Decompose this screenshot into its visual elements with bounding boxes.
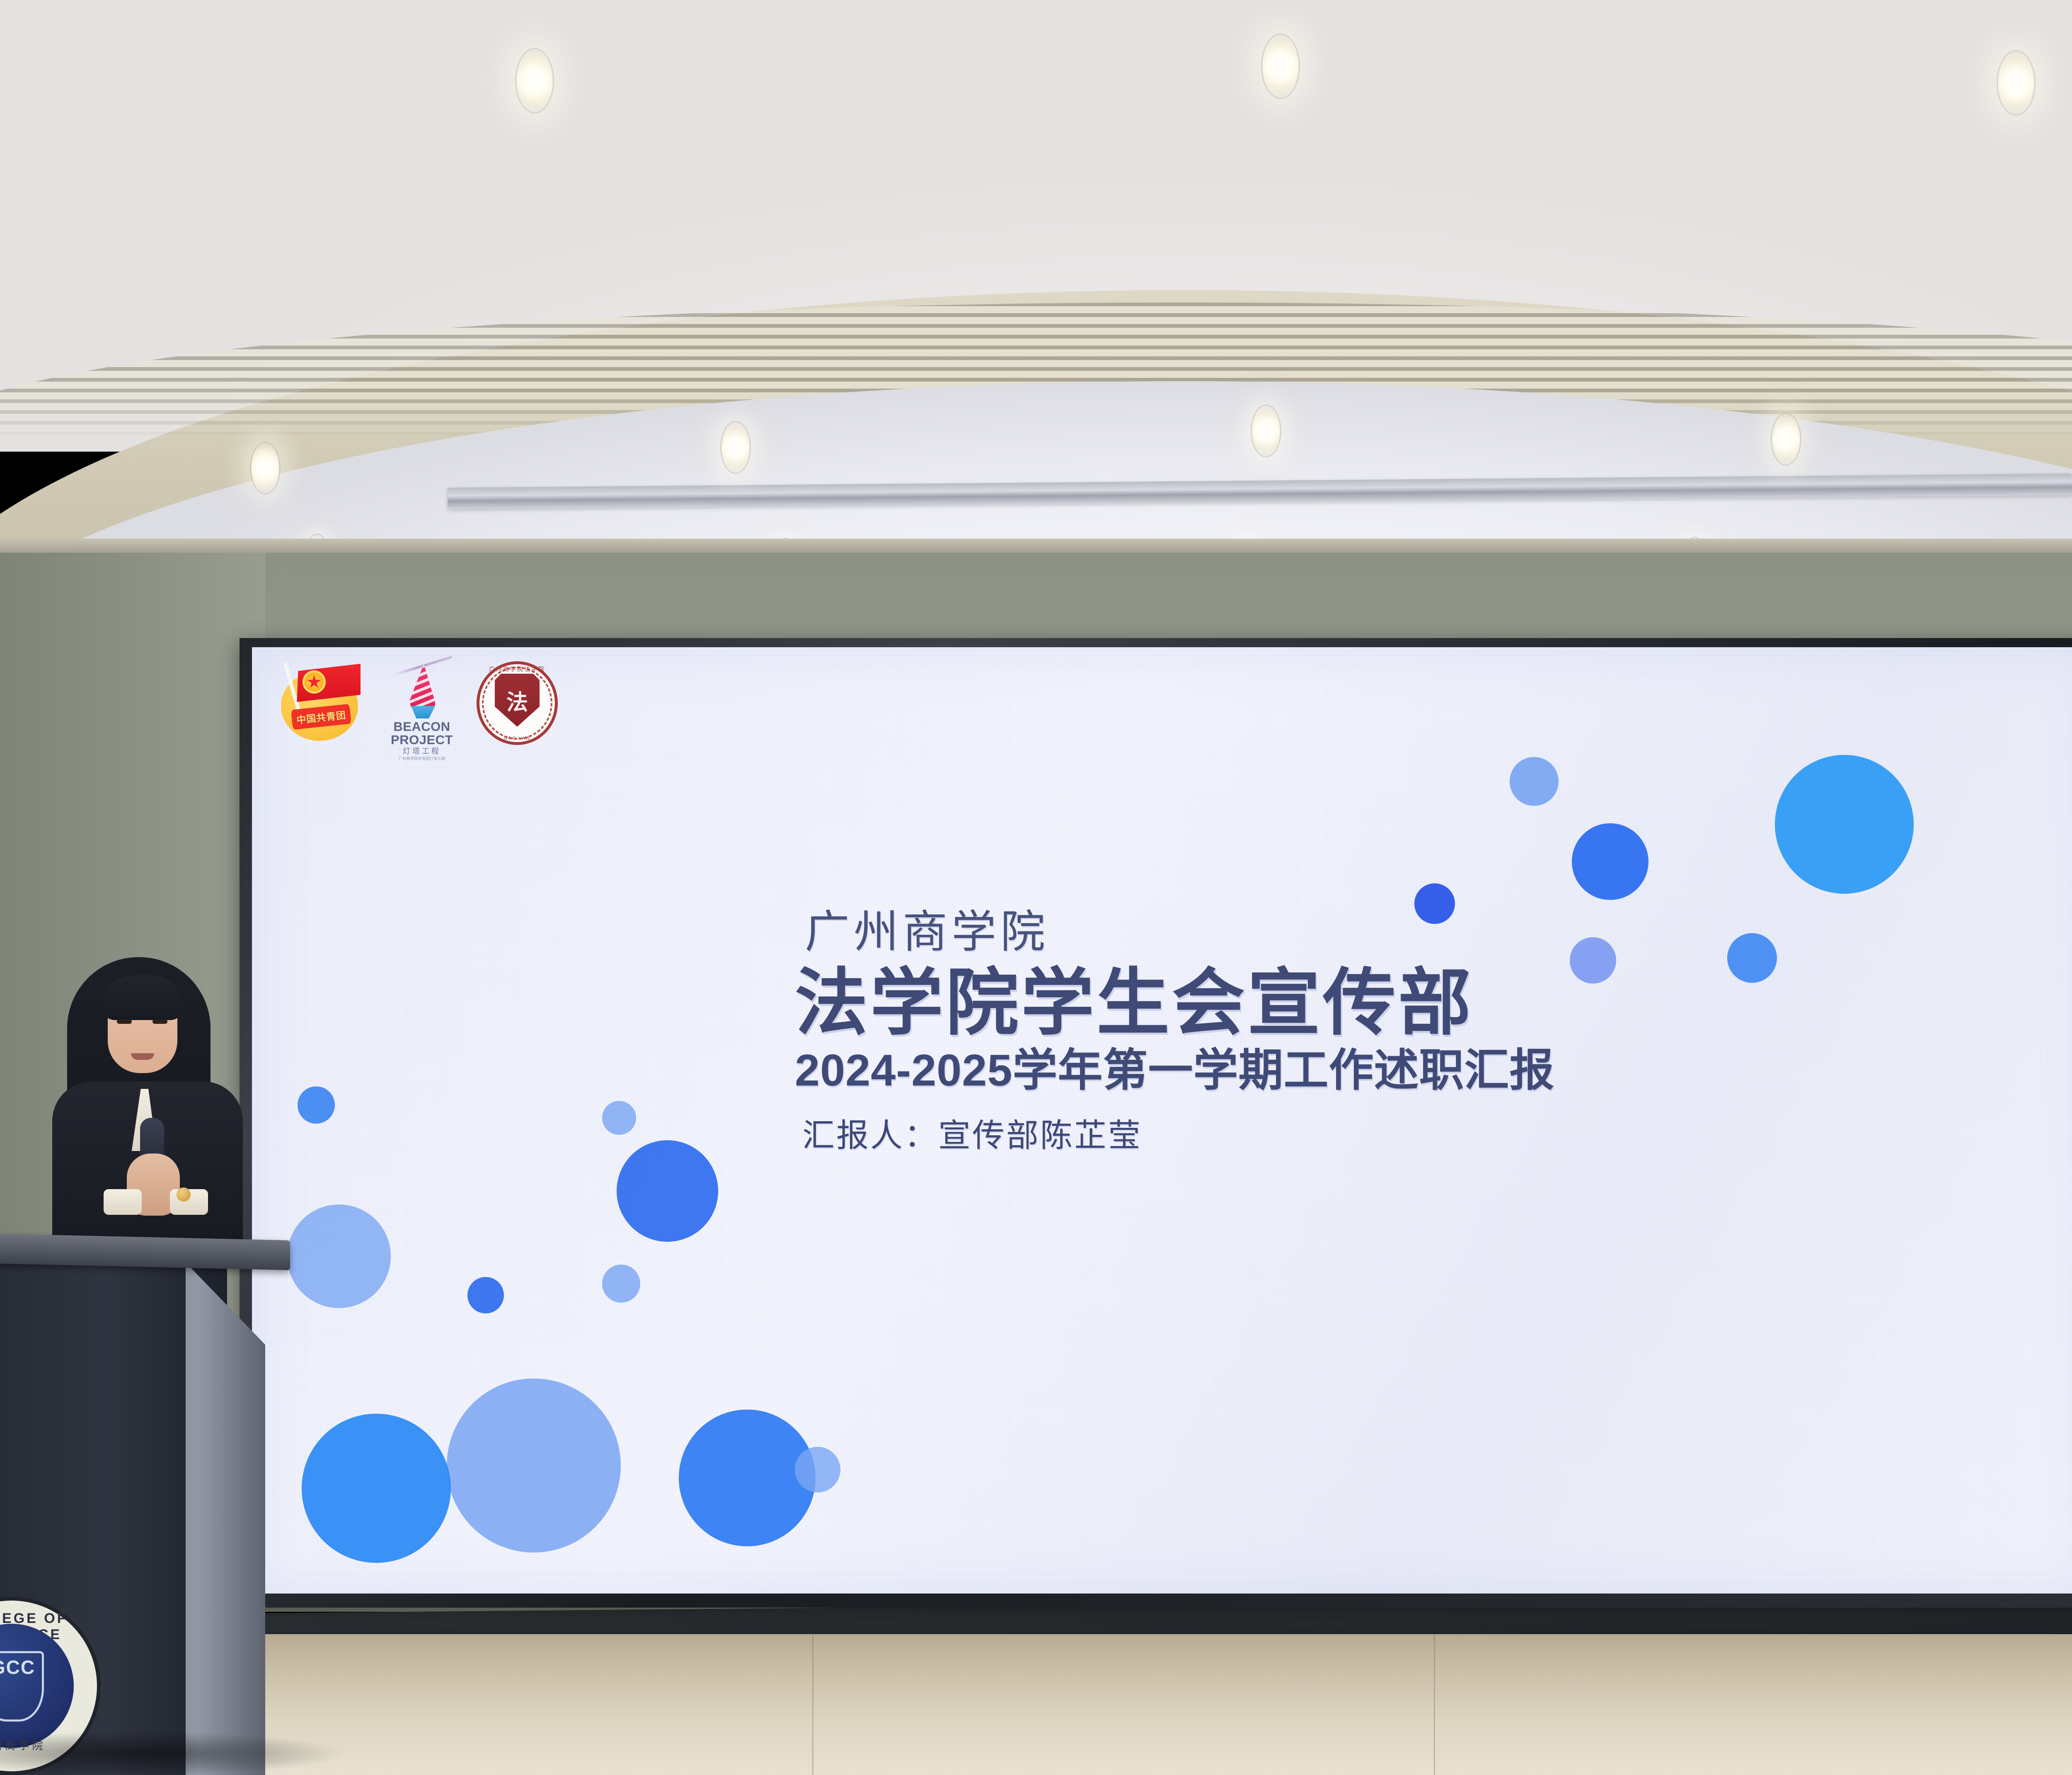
law-bottom-text: GCC LAW xyxy=(477,736,558,741)
lectern-seal-monogram: GCC xyxy=(0,1656,44,1678)
beacon-hull-icon xyxy=(411,706,435,718)
projection-screen-frame: 中国共青团 BEACON PROJECT 灯塔工程 广州商学院共青团灯塔工程 xyxy=(240,638,2072,1608)
ceiling-spotlight-5-rim xyxy=(720,421,751,474)
beacon-subtext: 广州商学院共青团灯塔工程 xyxy=(385,756,458,761)
ceiling-spotlight-4-rim xyxy=(250,442,281,495)
bubble-br-small xyxy=(795,1447,840,1492)
presenter-eye-left xyxy=(117,1019,132,1024)
presenter-cuff-left xyxy=(104,1189,142,1215)
ceiling-spotlight-6-rim xyxy=(1251,404,1281,457)
slide-school-name: 广州商学院 xyxy=(805,896,1997,960)
slide-title: 法学院学生会宣传部 xyxy=(795,965,1997,1042)
beacon-chinese-name: 灯塔工程 xyxy=(385,745,458,756)
presenter-eye-right xyxy=(152,1019,167,1024)
presenter-lapel-pin-icon xyxy=(177,1187,191,1202)
presenter-speaker xyxy=(46,957,261,1255)
presentation-slide[interactable]: 中国共青团 BEACON PROJECT 灯塔工程 广州商学院共青团灯塔工程 xyxy=(252,647,2072,1594)
cyl-star-icon xyxy=(303,670,326,694)
bubble-bl-tiny2 xyxy=(602,1101,636,1135)
wall-top-trim xyxy=(0,539,2072,553)
conference-hall-photo: 中国共青团 BEACON PROJECT 灯塔工程 广州商学院共青团灯塔工程 xyxy=(0,0,2072,1775)
law-school-emblem: 广州商学院法学院 法 GCC LAW xyxy=(477,661,558,745)
bubble-bl-mid xyxy=(617,1140,718,1242)
bubble-bl-big xyxy=(447,1378,621,1553)
bubble-bl-tiny1 xyxy=(298,1086,335,1124)
lectern-floor-shadow xyxy=(0,1732,340,1775)
slide-presenter-line: 汇报人：宣传部陈芷莹 xyxy=(802,1110,1997,1156)
bubble-bl-dark xyxy=(302,1414,451,1563)
bubble-br-mid xyxy=(679,1410,816,1546)
bubble-bl-tiny3 xyxy=(467,1277,504,1313)
communist-youth-league-emblem: 中国共青团 xyxy=(278,661,367,742)
slide-logo-row: 中国共青团 BEACON PROJECT 灯塔工程 广州商学院共青团灯塔工程 xyxy=(278,661,558,748)
bubble-tr-small xyxy=(1510,757,1559,806)
law-top-text: 广州商学院法学院 xyxy=(477,665,558,673)
beacon-project-logo: BEACON PROJECT 灯塔工程 广州商学院共青团灯塔工程 xyxy=(385,661,458,748)
ceiling-spotlight-1-rim xyxy=(515,48,554,114)
beacon-english-name: BEACON PROJECT xyxy=(385,720,458,746)
ceiling-spotlight-3-rim xyxy=(1997,50,2036,116)
bubble-bl-tiny4 xyxy=(602,1265,640,1303)
beacon-english-line1: BEACON xyxy=(385,720,458,733)
beacon-sail-stripes-icon xyxy=(409,664,435,709)
ceiling-spotlight-2-rim xyxy=(1261,34,1300,99)
presenter-fringe xyxy=(102,975,183,1020)
presenter-mouth xyxy=(131,1053,154,1060)
bubble-tr-mid xyxy=(1572,823,1648,900)
ceiling-spotlight-7-rim xyxy=(1771,413,1801,466)
bubble-bl-pale xyxy=(287,1204,391,1308)
bubble-tr-large xyxy=(1775,755,1914,894)
slide-subtitle: 2024-2025学年第一学期工作述职汇报 xyxy=(795,1045,1997,1095)
floor-seam xyxy=(1434,1634,1435,1775)
floor-seam xyxy=(812,1634,813,1775)
lectern: COLLEGE OF COMMERCE GCC 广州商学院 xyxy=(0,1237,290,1775)
slide-text-block: 广州商学院 法学院学生会宣传部 2024-2025学年第一学期工作述职汇报 汇报… xyxy=(795,896,1997,1156)
beacon-english-line2: PROJECT xyxy=(385,733,458,747)
